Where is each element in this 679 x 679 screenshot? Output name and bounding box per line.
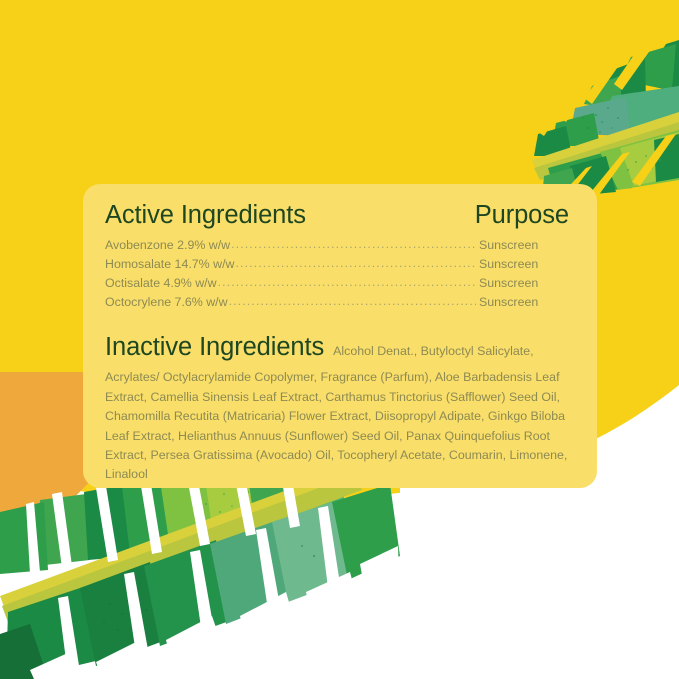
active-ingredient-row: Avobenzone 2.9% w/w ....................…	[105, 236, 575, 255]
inactive-ingredients-block: Inactive IngredientsAlcohol Denat., Buty…	[105, 328, 575, 484]
active-ingredients-list: Avobenzone 2.9% w/w ....................…	[105, 236, 575, 311]
ingredient-name: Homosalate 14.7% w/w	[105, 255, 234, 274]
ingredient-purpose: Sunscreen	[479, 255, 575, 274]
sunscreen-ingredients-panel: Active Ingredients Purpose Avobenzone 2.…	[0, 0, 679, 679]
active-ingredient-row: Octisalate 4.9% w/w ....................…	[105, 274, 575, 293]
ingredient-purpose: Sunscreen	[479, 236, 575, 255]
ingredient-name: Octisalate 4.9% w/w	[105, 274, 217, 293]
active-ingredient-row: Octocrylene 7.6% w/w ...................…	[105, 293, 575, 312]
purpose-heading: Purpose	[475, 200, 575, 230]
ingredient-purpose: Sunscreen	[479, 274, 575, 293]
active-ingredients-heading: Active Ingredients	[105, 200, 306, 230]
leader-dots: ........................................…	[229, 292, 476, 311]
ingredient-purpose: Sunscreen	[479, 293, 575, 312]
inactive-ingredients-text: Alcohol Denat., Butyloctyl Salicylate, A…	[105, 344, 567, 481]
ingredient-name: Octocrylene 7.6% w/w	[105, 293, 228, 312]
ingredients-card: Active Ingredients Purpose Avobenzone 2.…	[83, 184, 597, 488]
leader-dots: ........................................…	[235, 254, 476, 273]
active-ingredient-row: Homosalate 14.7% w/w ...................…	[105, 255, 575, 274]
inactive-ingredients-heading: Inactive Ingredients	[105, 333, 324, 361]
ingredient-name: Avobenzone 2.9% w/w	[105, 236, 230, 255]
leader-dots: ........................................…	[218, 273, 476, 292]
white-lower-mid	[400, 486, 679, 679]
leader-dots: ........................................…	[231, 235, 476, 254]
active-ingredients-header-row: Active Ingredients Purpose	[105, 200, 575, 230]
